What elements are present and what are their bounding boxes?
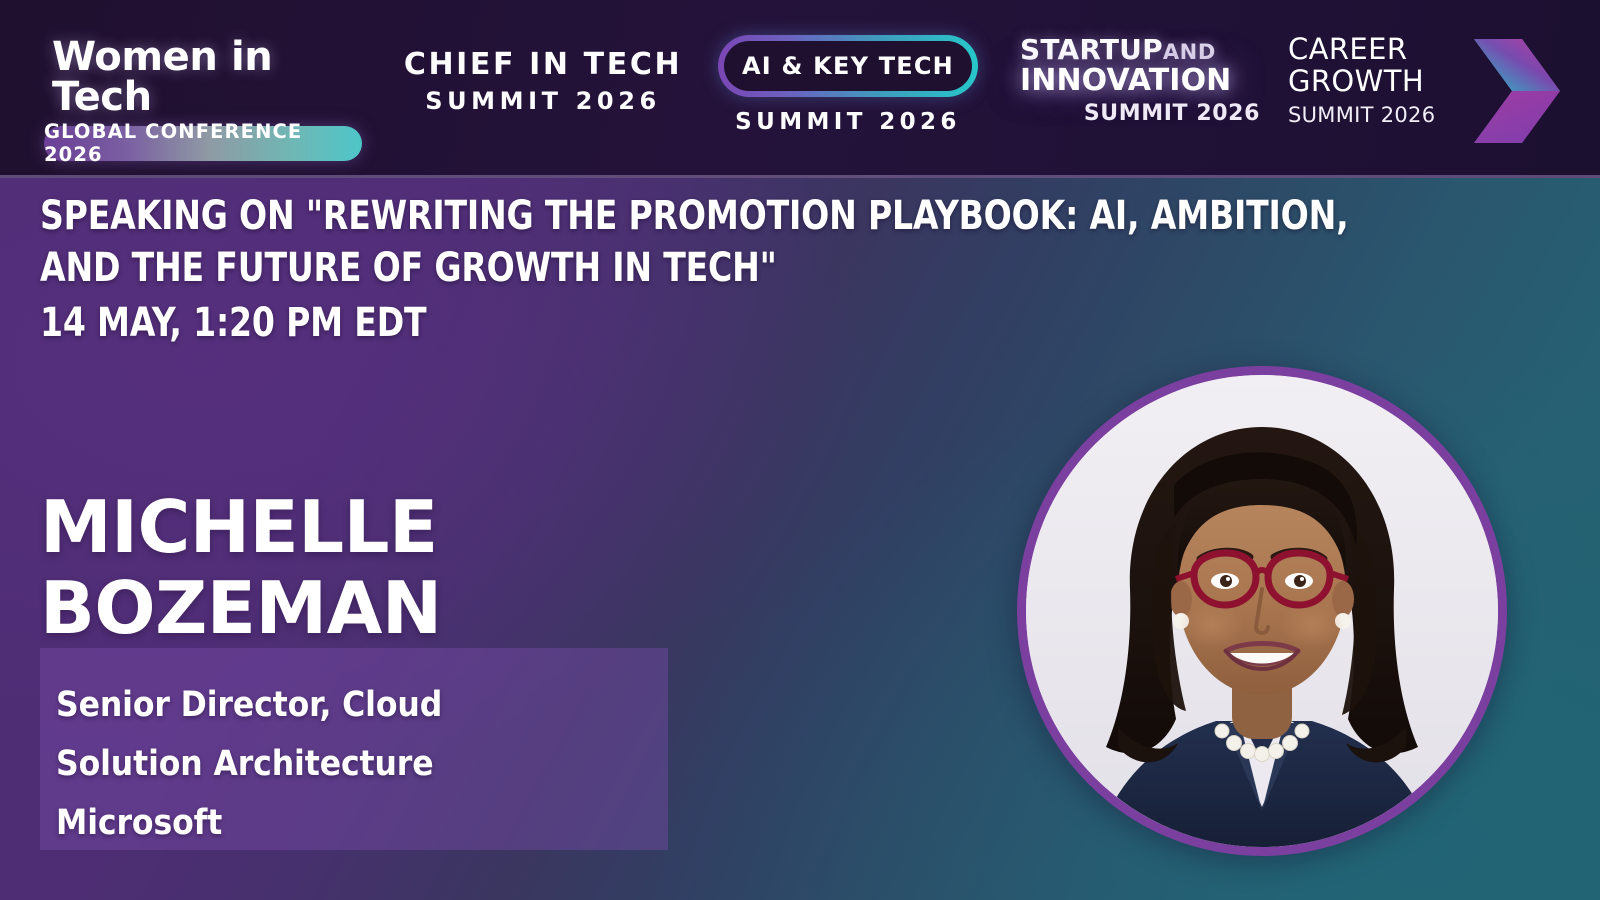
- logo-ai-key-tech[interactable]: AI & KEY TECH SUMMIT 2026: [718, 35, 978, 135]
- logo-wit-wordmark: Women in Tech: [44, 37, 362, 117]
- logo-cg-line1: CAREER: [1288, 33, 1478, 65]
- header-logo-row: Women in Tech GLOBAL CONFERENCE 2026 CHI…: [0, 0, 1600, 177]
- speaker-portrait-image: [1026, 375, 1498, 847]
- logo-akt-pill: AI & KEY TECH: [718, 35, 978, 97]
- logo-cg-line2: GROWTH: [1288, 65, 1478, 97]
- logo-si-line2: INNOVATION: [1020, 65, 1260, 97]
- logo-si-line1: STARTUPAND: [1020, 35, 1260, 64]
- session-datetime: 14 MAY, 1:20 PM EDT: [40, 300, 426, 346]
- double-chevron-icon: [1468, 37, 1560, 145]
- logo-cg-line3: SUMMIT 2026: [1288, 103, 1478, 127]
- logo-cit-line1: CHIEF IN TECH: [400, 49, 686, 81]
- logo-akt-pill-inner: AI & KEY TECH: [724, 41, 972, 91]
- logo-cit-line2: SUMMIT 2026: [400, 87, 686, 115]
- logo-cg-text: CAREER GROWTH SUMMIT 2026: [1288, 33, 1478, 128]
- speaker-name: MICHELLE BOZEMAN: [40, 487, 800, 648]
- speaker-name-last: BOZEMAN: [40, 568, 800, 649]
- speaker-name-first: MICHELLE: [40, 487, 800, 568]
- logo-akt-line1: AI & KEY TECH: [742, 52, 954, 80]
- logo-akt-line2: SUMMIT 2026: [718, 109, 978, 135]
- logo-chief-in-tech[interactable]: CHIEF IN TECH SUMMIT 2026: [400, 49, 686, 115]
- logo-women-in-tech[interactable]: Women in Tech GLOBAL CONFERENCE 2026: [44, 37, 362, 161]
- speaker-announcement-graphic: Women in Tech GLOBAL CONFERENCE 2026 CHI…: [0, 0, 1600, 900]
- logo-si-line1-and: AND: [1163, 40, 1216, 64]
- logo-wit-badge: GLOBAL CONFERENCE 2026: [44, 126, 362, 161]
- header-bar: Women in Tech GLOBAL CONFERENCE 2026 CHI…: [0, 0, 1600, 178]
- logo-si-line3: SUMMIT 2026: [1020, 101, 1260, 126]
- logo-si-line1-main: STARTUP: [1020, 33, 1163, 66]
- logo-startup-innovation[interactable]: STARTUPAND INNOVATION SUMMIT 2026: [1020, 35, 1260, 127]
- speaker-portrait: [1017, 366, 1507, 856]
- logo-career-growth[interactable]: CAREER GROWTH SUMMIT 2026: [1288, 33, 1556, 149]
- logo-wit-badge-label: GLOBAL CONFERENCE 2026: [44, 120, 362, 166]
- speaker-role-panel: Senior Director, Cloud Solution Architec…: [40, 648, 668, 850]
- speaker-role-line2: Solution Architecture: [56, 735, 668, 794]
- speaker-company: Microsoft: [56, 794, 668, 853]
- speaker-role-line1: Senior Director, Cloud: [56, 676, 668, 735]
- session-headline: SPEAKING ON "REWRITING THE PROMOTION PLA…: [40, 190, 1356, 294]
